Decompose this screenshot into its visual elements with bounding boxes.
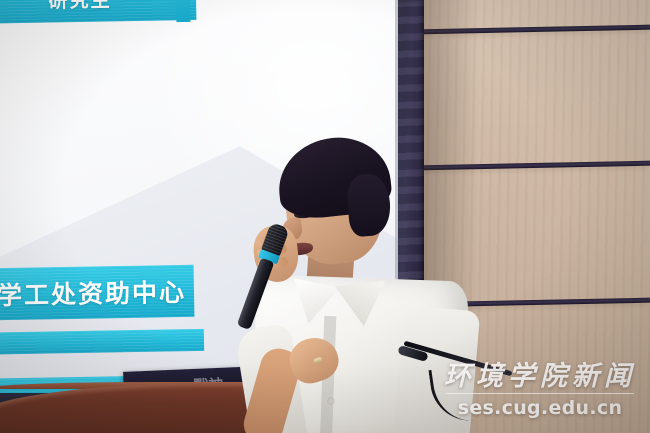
shirt-button	[328, 398, 334, 404]
slide-banner-stripe-upper	[0, 329, 204, 355]
slide-banner-title: 学工处资助中心	[0, 265, 194, 321]
slide-banner-top: 研究生	[0, 0, 196, 24]
slide-banner-top-accent	[176, 0, 191, 22]
photograph: 研究生 学工处资助中心 GOD OF WAR 戰神	[0, 0, 650, 433]
